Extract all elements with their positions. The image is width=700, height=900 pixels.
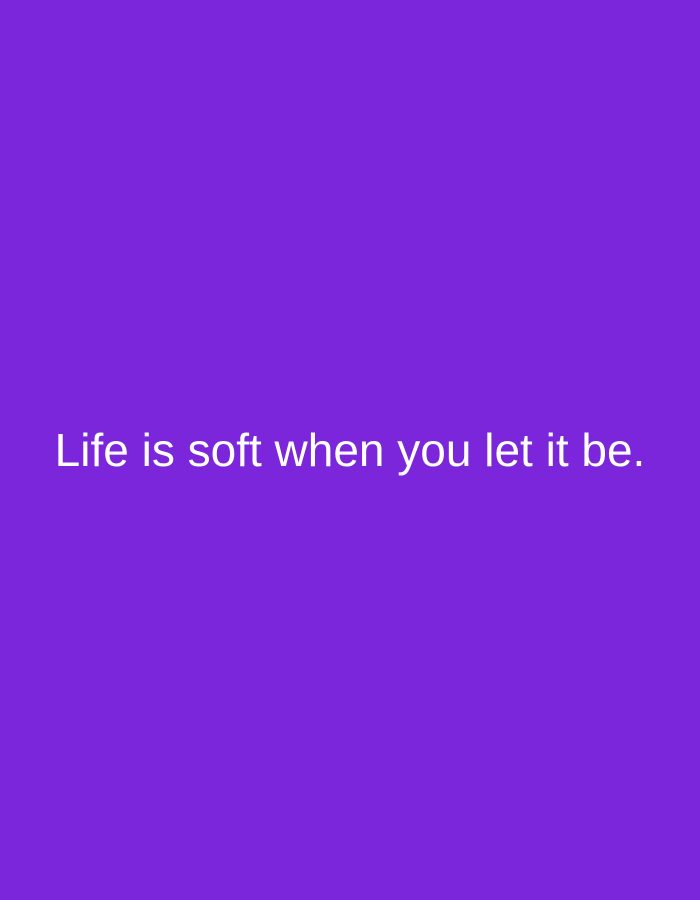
quote-content-wrapper: Life is soft when you let it be. <box>0 421 700 480</box>
quote-card: Life is soft when you let it be. <box>0 0 700 900</box>
quote-text: Life is soft when you let it be. <box>32 421 668 480</box>
